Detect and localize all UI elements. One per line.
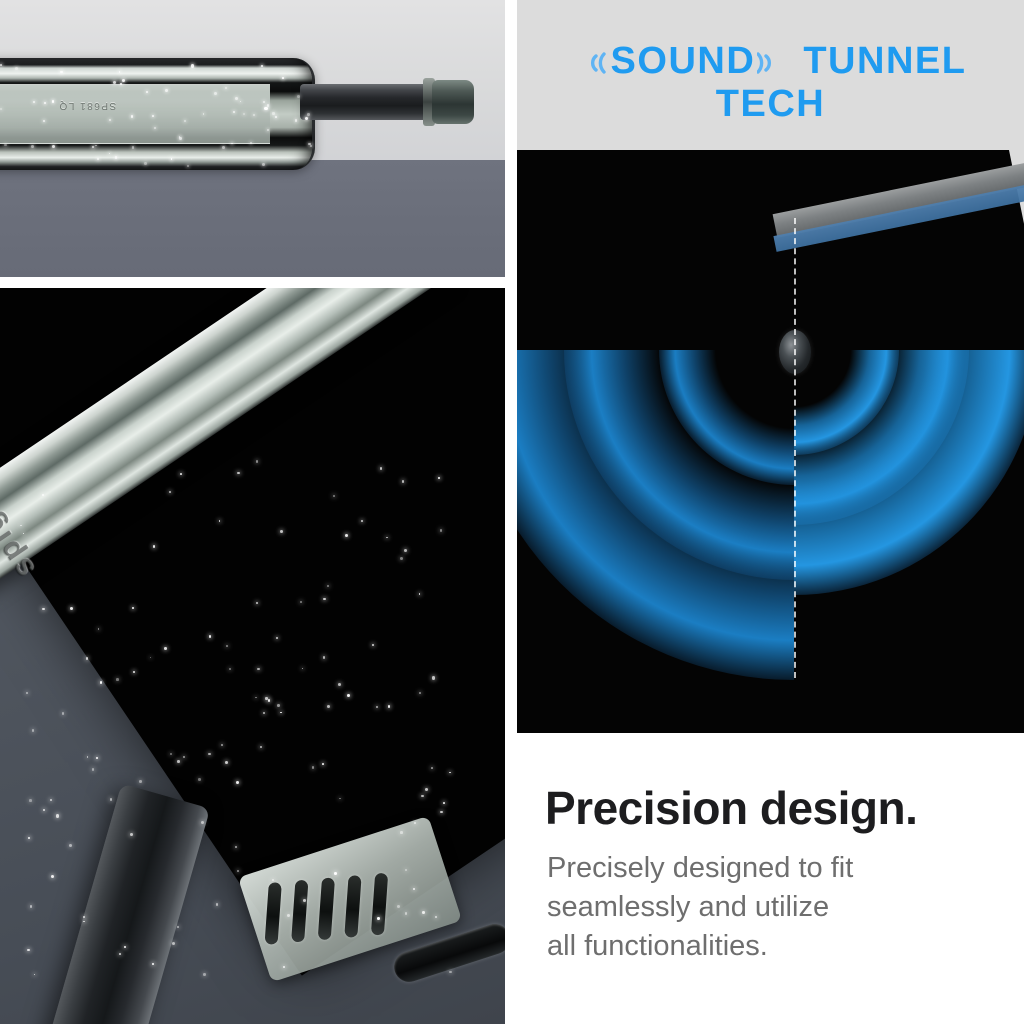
clear-case-body: SP681 LQ [0,58,315,170]
copy-body-line-3: all functionalities. [547,927,853,966]
spen-stylus [3,783,210,1024]
panel-copy: Precision design. Precisely designed to … [517,733,1024,1024]
sound-wave-right-icon [757,48,787,78]
spen-end-cap [432,80,474,124]
case-emboss-text: SP681 LQ [58,100,116,111]
case-rim [0,58,315,170]
sound-wave-group [517,150,1024,733]
headline-line-1: SOUND TUNNEL [517,40,1024,83]
headline-line-2: TECH [517,83,1024,126]
product-marketing-image: SP681 LQ spigen [0,0,1024,1024]
panel-case-closeup: SP681 LQ [0,0,505,277]
alignment-dashed-line [794,218,796,678]
headline-word-tunnel: TUNNEL [803,40,966,82]
case-closeup-background-lower [0,160,505,277]
copy-body: Precisely designed to fitseamlessly and … [547,849,853,966]
sound-wave-left-icon [579,48,609,78]
panel-sound-diagram: SOUND TUNNEL TECH [517,0,1024,733]
headline-word-sound: SOUND [611,40,756,82]
copy-body-line-1: Precisely designed to fit [547,849,853,888]
headline: SOUND TUNNEL TECH [517,40,1024,125]
panel-spen-insertion: spigen [0,288,505,1024]
acoustic-diagram [517,150,1024,733]
copy-body-line-2: seamlessly and utilize [547,888,853,927]
copy-heading: Precision design. [545,781,917,835]
